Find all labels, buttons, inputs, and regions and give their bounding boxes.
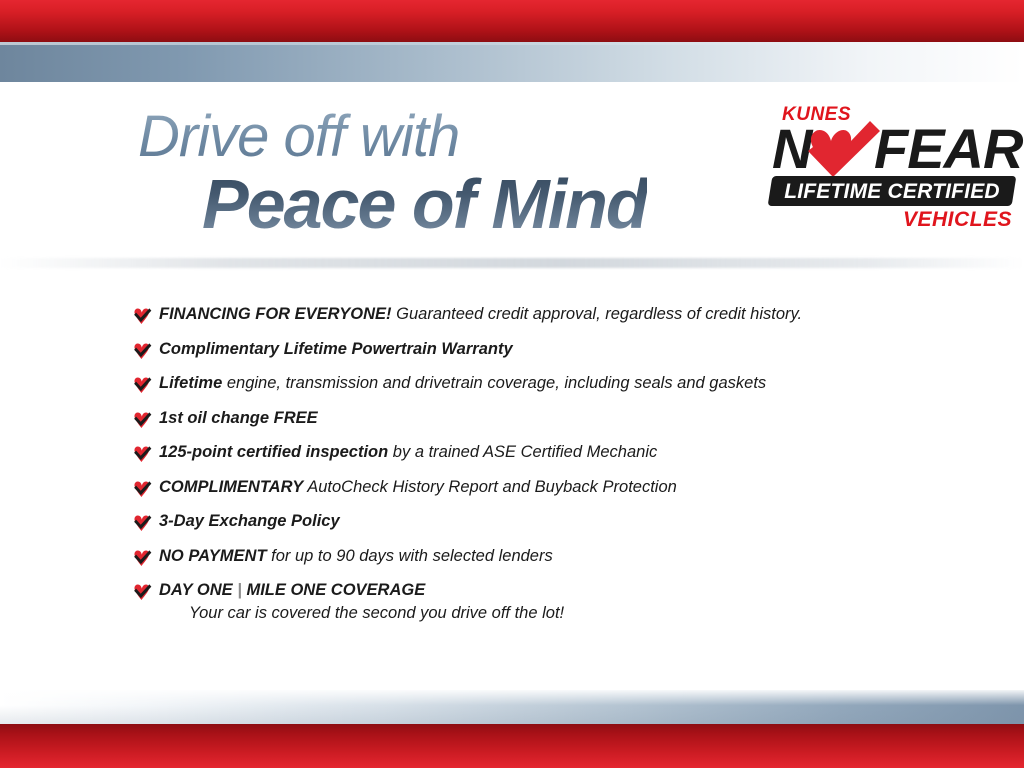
benefit-text-wrap: FINANCING FOR EVERYONE! Guaranteed credi… — [159, 304, 802, 325]
logo-nofear-wordmark: N FEAR — [772, 121, 1016, 177]
benefit-text: Lifetime engine, transmission and drivet… — [159, 373, 766, 394]
benefit-item: NO PAYMENT for up to 90 days with select… — [131, 546, 931, 570]
benefit-text: 1st oil change FREE — [159, 408, 318, 429]
heart-check-icon — [131, 548, 153, 570]
benefit-bold: Lifetime — [159, 374, 222, 392]
heart-check-icon — [131, 410, 153, 432]
heart-check-icon — [131, 479, 153, 501]
benefit-text: FINANCING FOR EVERYONE! Guaranteed credi… — [159, 304, 802, 325]
heart-check-icon — [131, 375, 153, 397]
heart-check-icon — [131, 582, 153, 604]
logo-word-fear: FEAR — [874, 121, 1022, 177]
benefit-item: Lifetime engine, transmission and drivet… — [131, 373, 931, 397]
benefit-text-wrap: COMPLIMENTARY AutoCheck History Report a… — [159, 477, 677, 498]
benefit-text: Complimentary Lifetime Powertrain Warran… — [159, 339, 513, 360]
benefit-bold: 1st oil change FREE — [159, 409, 318, 427]
benefit-text-wrap: 1st oil change FREE — [159, 408, 318, 429]
kunes-no-fear-logo: KUNES N FEAR LIFETIME CERTIFIED VEHICLES — [766, 104, 1016, 244]
benefit-bold: NO PAYMENT — [159, 547, 267, 565]
benefit-text-wrap: DAY ONE | MILE ONE COVERAGEYour car is c… — [159, 580, 564, 624]
heart-check-icon — [131, 341, 153, 363]
top-stripe-bevel — [0, 42, 1024, 45]
benefit-item: FINANCING FOR EVERYONE! Guaranteed credi… — [131, 304, 931, 328]
heart-check-icon — [131, 513, 153, 535]
benefit-text: COMPLIMENTARY AutoCheck History Report a… — [159, 477, 677, 498]
benefit-text-wrap: 125-point certified inspection by a trai… — [159, 442, 657, 463]
benefit-text-wrap: Complimentary Lifetime Powertrain Warran… — [159, 339, 513, 360]
benefit-text: 125-point certified inspection by a trai… — [159, 442, 657, 463]
benefit-text: NO PAYMENT for up to 90 days with select… — [159, 546, 553, 567]
benefit-bold: FINANCING FOR EVERYONE! — [159, 305, 392, 323]
benefit-bold: 125-point certified inspection — [159, 443, 388, 461]
benefit-bold: Complimentary Lifetime Powertrain Warran… — [159, 340, 513, 358]
benefit-rest: AutoCheck History Report and Buyback Pro… — [303, 478, 677, 496]
benefit-subtext: Your car is covered the second you drive… — [189, 602, 564, 624]
heart-check-icon — [131, 306, 153, 328]
benefit-rest: for up to 90 days with selected lenders — [267, 547, 553, 565]
benefit-rest: engine, transmission and drivetrain cove… — [222, 374, 766, 392]
benefit-item: 125-point certified inspection by a trai… — [131, 442, 931, 466]
benefit-item: COMPLIMENTARY AutoCheck History Report a… — [131, 477, 931, 501]
header: Drive off with Peace of Mind KUNES N FEA… — [0, 84, 1024, 266]
benefit-text-wrap: Lifetime engine, transmission and drivet… — [159, 373, 766, 394]
benefit-text: 3-Day Exchange Policy — [159, 511, 340, 532]
benefit-item: DAY ONE | MILE ONE COVERAGEYour car is c… — [131, 580, 931, 624]
benefit-bold: DAY ONE — [159, 581, 233, 599]
logo-certified-text: LIFETIME CERTIFIED — [772, 178, 1012, 205]
benefit-item: 3-Day Exchange Policy — [131, 511, 931, 535]
page-title: Drive off with Peace of Mind — [138, 108, 647, 242]
benefit-bold: COMPLIMENTARY — [159, 478, 303, 496]
benefits-list: FINANCING FOR EVERYONE! Guaranteed credi… — [131, 304, 931, 635]
benefit-separator: | — [233, 581, 247, 599]
header-divider — [0, 258, 1024, 268]
top-red-stripe — [0, 0, 1024, 42]
benefit-bold: 3-Day Exchange Policy — [159, 512, 340, 530]
check-heart-icon — [802, 119, 882, 181]
benefit-text: DAY ONE | MILE ONE COVERAGE — [159, 580, 564, 601]
headline-line-1: Drive off with — [138, 108, 647, 166]
logo-vehicles-text: VEHICLES — [903, 208, 1012, 232]
bottom-banner — [0, 690, 1024, 768]
top-gray-stripe — [0, 42, 1024, 82]
heart-check-icon — [131, 444, 153, 466]
headline-line-2: Peace of Mind — [202, 168, 647, 242]
bottom-stripe-shade — [0, 690, 1024, 724]
bottom-red-stripe — [0, 724, 1024, 768]
benefit-bold-2: MILE ONE COVERAGE — [246, 581, 425, 599]
benefit-text-wrap: NO PAYMENT for up to 90 days with select… — [159, 546, 553, 567]
benefit-rest: by a trained ASE Certified Mechanic — [388, 443, 657, 461]
benefit-item: Complimentary Lifetime Powertrain Warran… — [131, 339, 931, 363]
benefit-item: 1st oil change FREE — [131, 408, 931, 432]
benefit-rest: Guaranteed credit approval, regardless o… — [392, 305, 803, 323]
top-banner — [0, 0, 1024, 84]
benefit-text-wrap: 3-Day Exchange Policy — [159, 511, 340, 532]
